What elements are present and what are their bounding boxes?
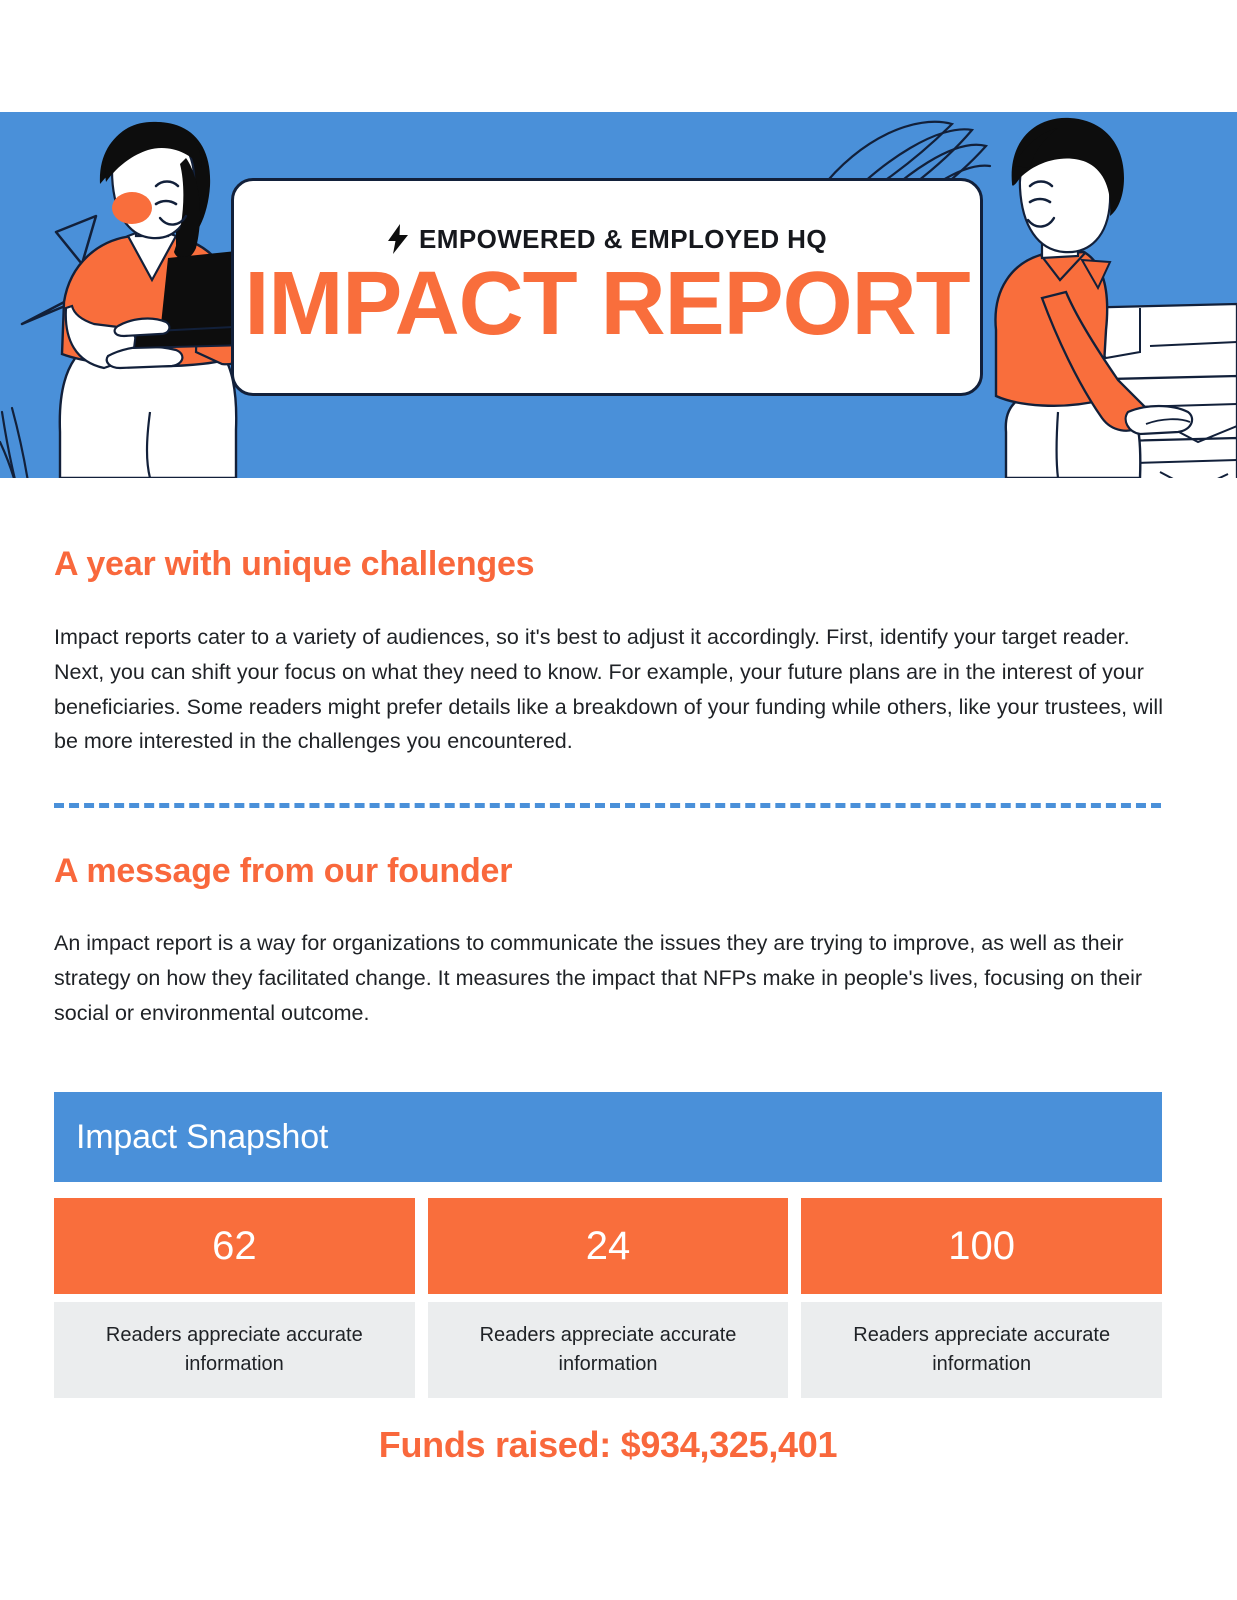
stat-card: 100 Readers appreciate accurate informat… xyxy=(801,1198,1162,1398)
section-heading-challenges: A year with unique challenges xyxy=(54,545,1166,584)
document-body: A year with unique challenges Impact rep… xyxy=(54,545,1166,1031)
stat-card: 24 Readers appreciate accurate informati… xyxy=(428,1198,789,1398)
stat-value-box: 100 xyxy=(801,1198,1162,1294)
section-body-challenges: Impact reports cater to a variety of aud… xyxy=(54,620,1166,759)
title-card: EMPOWERED & EMPLOYED HQ IMPACT REPORT xyxy=(231,178,983,396)
section-body-founder: An impact report is a way for organizati… xyxy=(54,926,1166,1030)
stat-caption-box: Readers appreciate accurate information xyxy=(54,1302,415,1398)
impact-snapshot-section: Impact Snapshot 62 Readers appreciate ac… xyxy=(54,1092,1162,1466)
grass-doodle xyxy=(0,408,34,478)
page-title: IMPACT REPORT xyxy=(244,259,969,351)
stat-caption-box: Readers appreciate accurate information xyxy=(428,1302,789,1398)
brand-name: EMPOWERED & EMPLOYED HQ xyxy=(419,224,827,255)
stat-value: 24 xyxy=(586,1224,631,1269)
stat-value-box: 62 xyxy=(54,1198,415,1294)
stat-caption-box: Readers appreciate accurate information xyxy=(801,1302,1162,1398)
lightning-bolt-icon xyxy=(387,224,409,254)
snapshot-header-bar: Impact Snapshot xyxy=(54,1092,1162,1182)
stat-value: 62 xyxy=(212,1224,257,1269)
stat-card: 62 Readers appreciate accurate informati… xyxy=(54,1198,415,1398)
brand-eyebrow: EMPOWERED & EMPLOYED HQ xyxy=(387,224,827,255)
funds-raised-total: Funds raised: $934,325,401 xyxy=(54,1424,1162,1466)
stat-value-box: 24 xyxy=(428,1198,789,1294)
stat-value: 100 xyxy=(948,1224,1015,1269)
stat-caption: Readers appreciate accurate information xyxy=(72,1321,397,1379)
header-banner: EMPOWERED & EMPLOYED HQ IMPACT REPORT xyxy=(0,112,1237,478)
stat-caption: Readers appreciate accurate information xyxy=(819,1321,1144,1379)
section-heading-founder: A message from our founder xyxy=(54,852,1166,891)
man-carrying-boxes-illustration xyxy=(995,118,1237,478)
stat-card-row: 62 Readers appreciate accurate informati… xyxy=(54,1198,1162,1398)
snapshot-title: Impact Snapshot xyxy=(76,1118,328,1157)
stat-caption: Readers appreciate accurate information xyxy=(446,1321,771,1379)
